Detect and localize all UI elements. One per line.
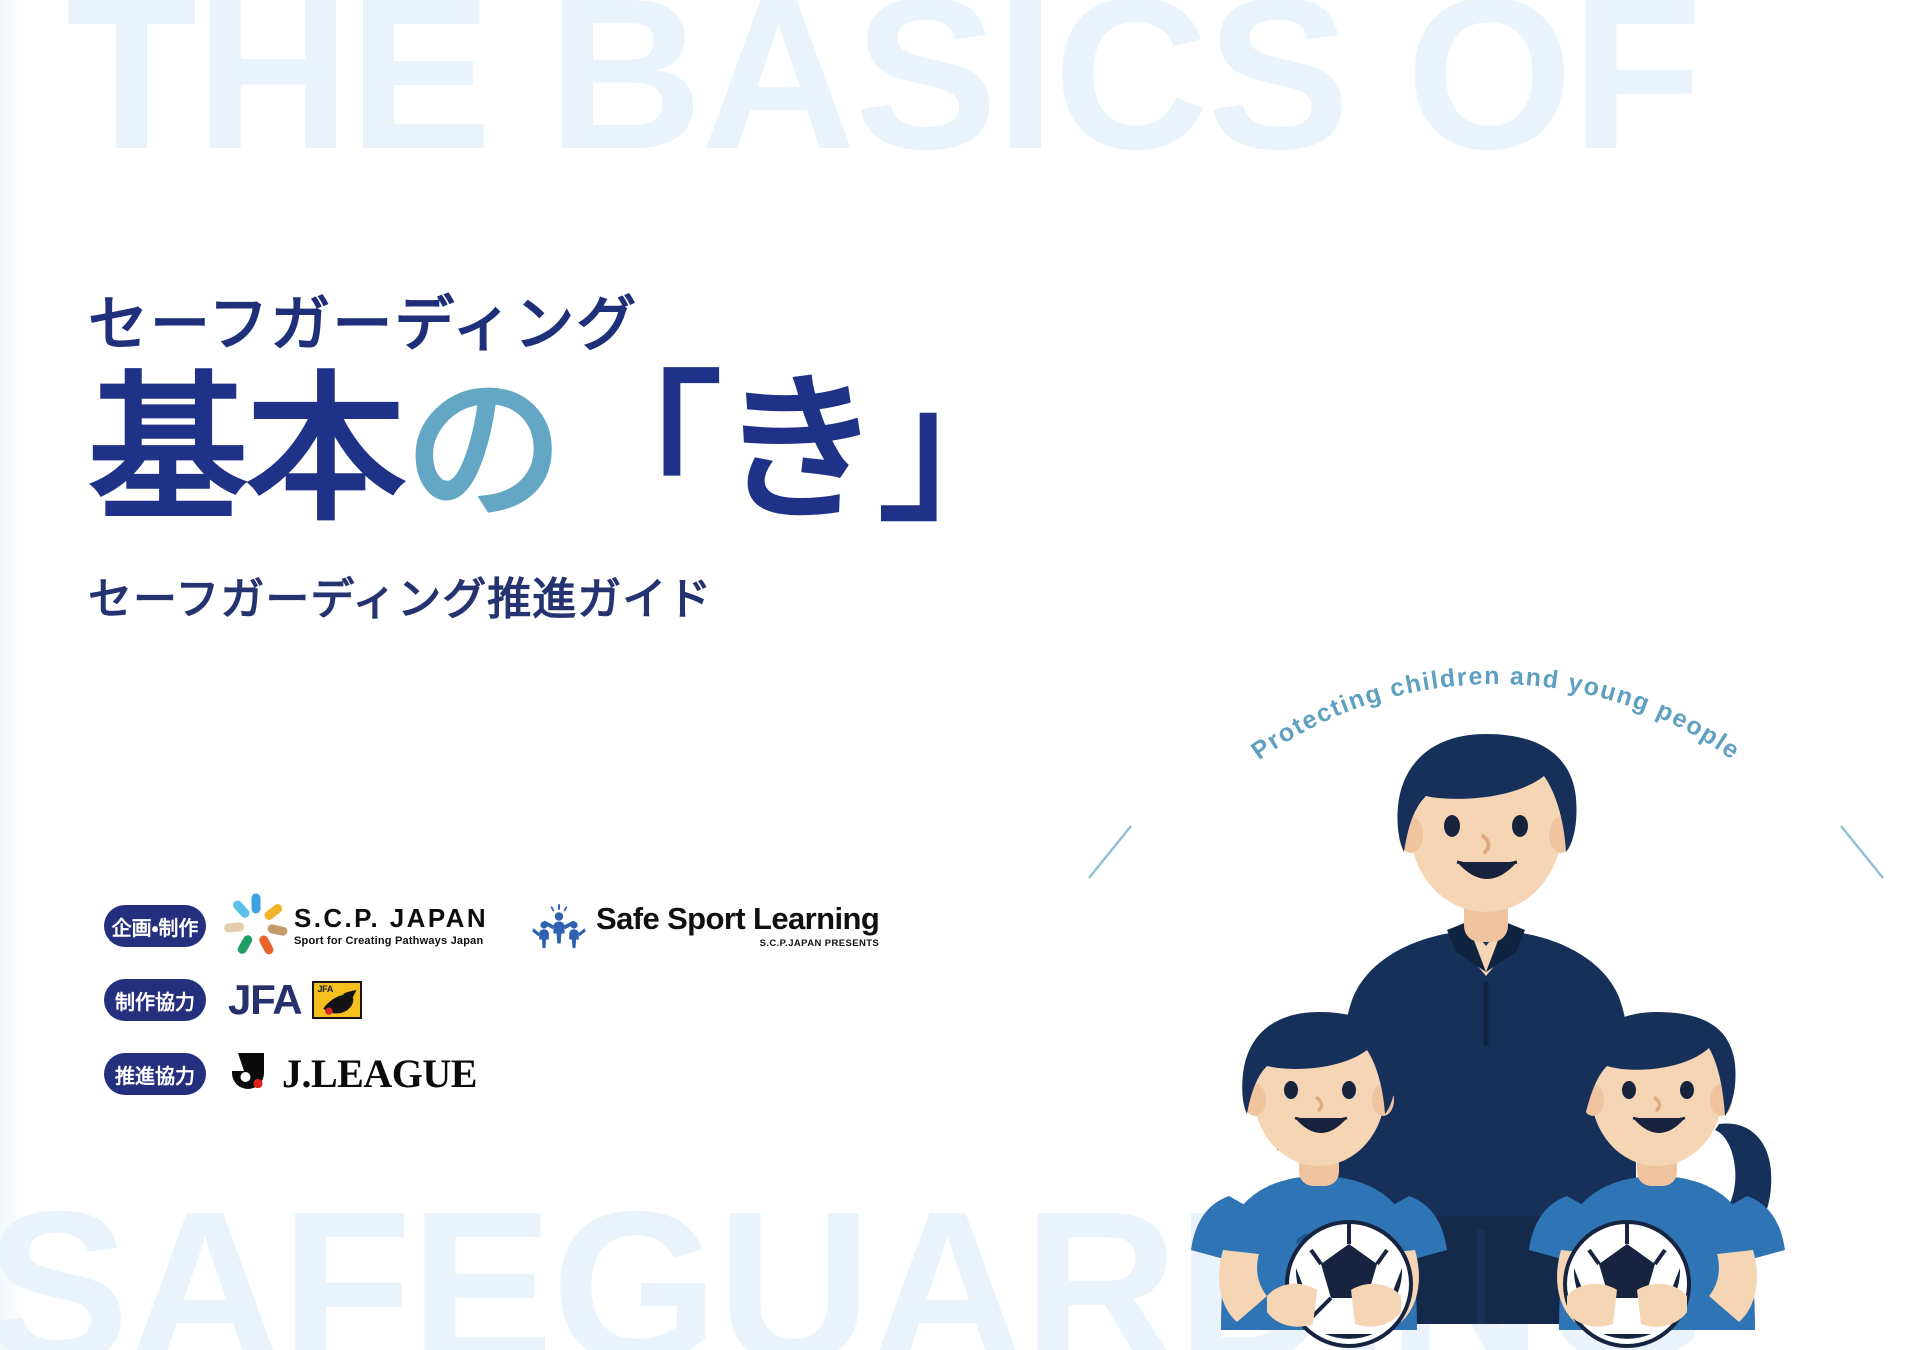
- scp-japan-tagline: Sport for Creating Pathways Japan: [294, 936, 488, 947]
- jfa-crest-icon: JFA: [312, 981, 362, 1019]
- credit-row: 企画・制作 S.C.P. JAPAN Sport for Creating Pa…: [104, 900, 879, 952]
- scp-japan-text: S.C.P. JAPAN Sport for Creating Pathways…: [294, 905, 488, 947]
- headline-accent: の: [404, 360, 562, 539]
- credit-row: 制作協力 JFA JFA: [104, 974, 879, 1026]
- family-illustration: Protecting children and young people: [1071, 630, 1901, 1350]
- people-group-icon: 10: [1071, 630, 1901, 1350]
- j-league-wordmark: J.LEAGUE: [282, 1054, 477, 1094]
- left-edge-tint: [0, 0, 26, 1350]
- j-league-mark-icon: [228, 1051, 274, 1097]
- page-title: 基本の「き」: [88, 364, 1036, 537]
- pinwheel-icon: [228, 898, 284, 954]
- jfa-wordmark: JFA: [228, 979, 301, 1021]
- credits-block: 企画・制作 S.C.P. JAPAN Sport for Creating Pa…: [104, 900, 879, 1100]
- safe-sport-learning-tagline: S.C.P.JAPAN PRESENTS: [596, 939, 879, 949]
- credit-badge-planning: 企画・制作: [104, 905, 206, 947]
- credit-badge-promotion-support: 推進協力: [104, 1053, 206, 1095]
- title-block: セーフガーディング 基本の「き」 セーフガーディング推進ガイド: [88, 292, 1036, 627]
- scp-japan-name: S.C.P. JAPAN: [294, 905, 488, 931]
- credit-badge-production-support: 制作協力: [104, 979, 206, 1021]
- title-slide: THE BASICS OF SAFEGUARDING セーフガーディング 基本の…: [0, 0, 1909, 1350]
- safe-sport-learning-logo: Safe Sport Learning S.C.P.JAPAN PRESENTS: [532, 902, 879, 950]
- title-kicker: セーフガーディング: [88, 292, 1036, 358]
- jfa-logo: JFA JFA: [228, 979, 362, 1021]
- j-league-logo: J.LEAGUE: [228, 1051, 477, 1097]
- headline-part1: 基本: [88, 360, 404, 539]
- credit-row: 推進協力 J.LEAGUE: [104, 1048, 879, 1100]
- scp-japan-logo: S.C.P. JAPAN Sport for Creating Pathways…: [228, 898, 488, 954]
- safe-sport-learning-name: Safe Sport Learning: [596, 903, 879, 934]
- people-icon: [532, 902, 586, 950]
- safe-sport-learning-text: Safe Sport Learning S.C.P.JAPAN PRESENTS: [596, 903, 879, 949]
- headline-part2: 「き」: [562, 360, 1036, 539]
- page-subtitle: セーフガーディング推進ガイド: [88, 563, 1036, 627]
- watermark-top: THE BASICS OF: [66, 0, 1700, 181]
